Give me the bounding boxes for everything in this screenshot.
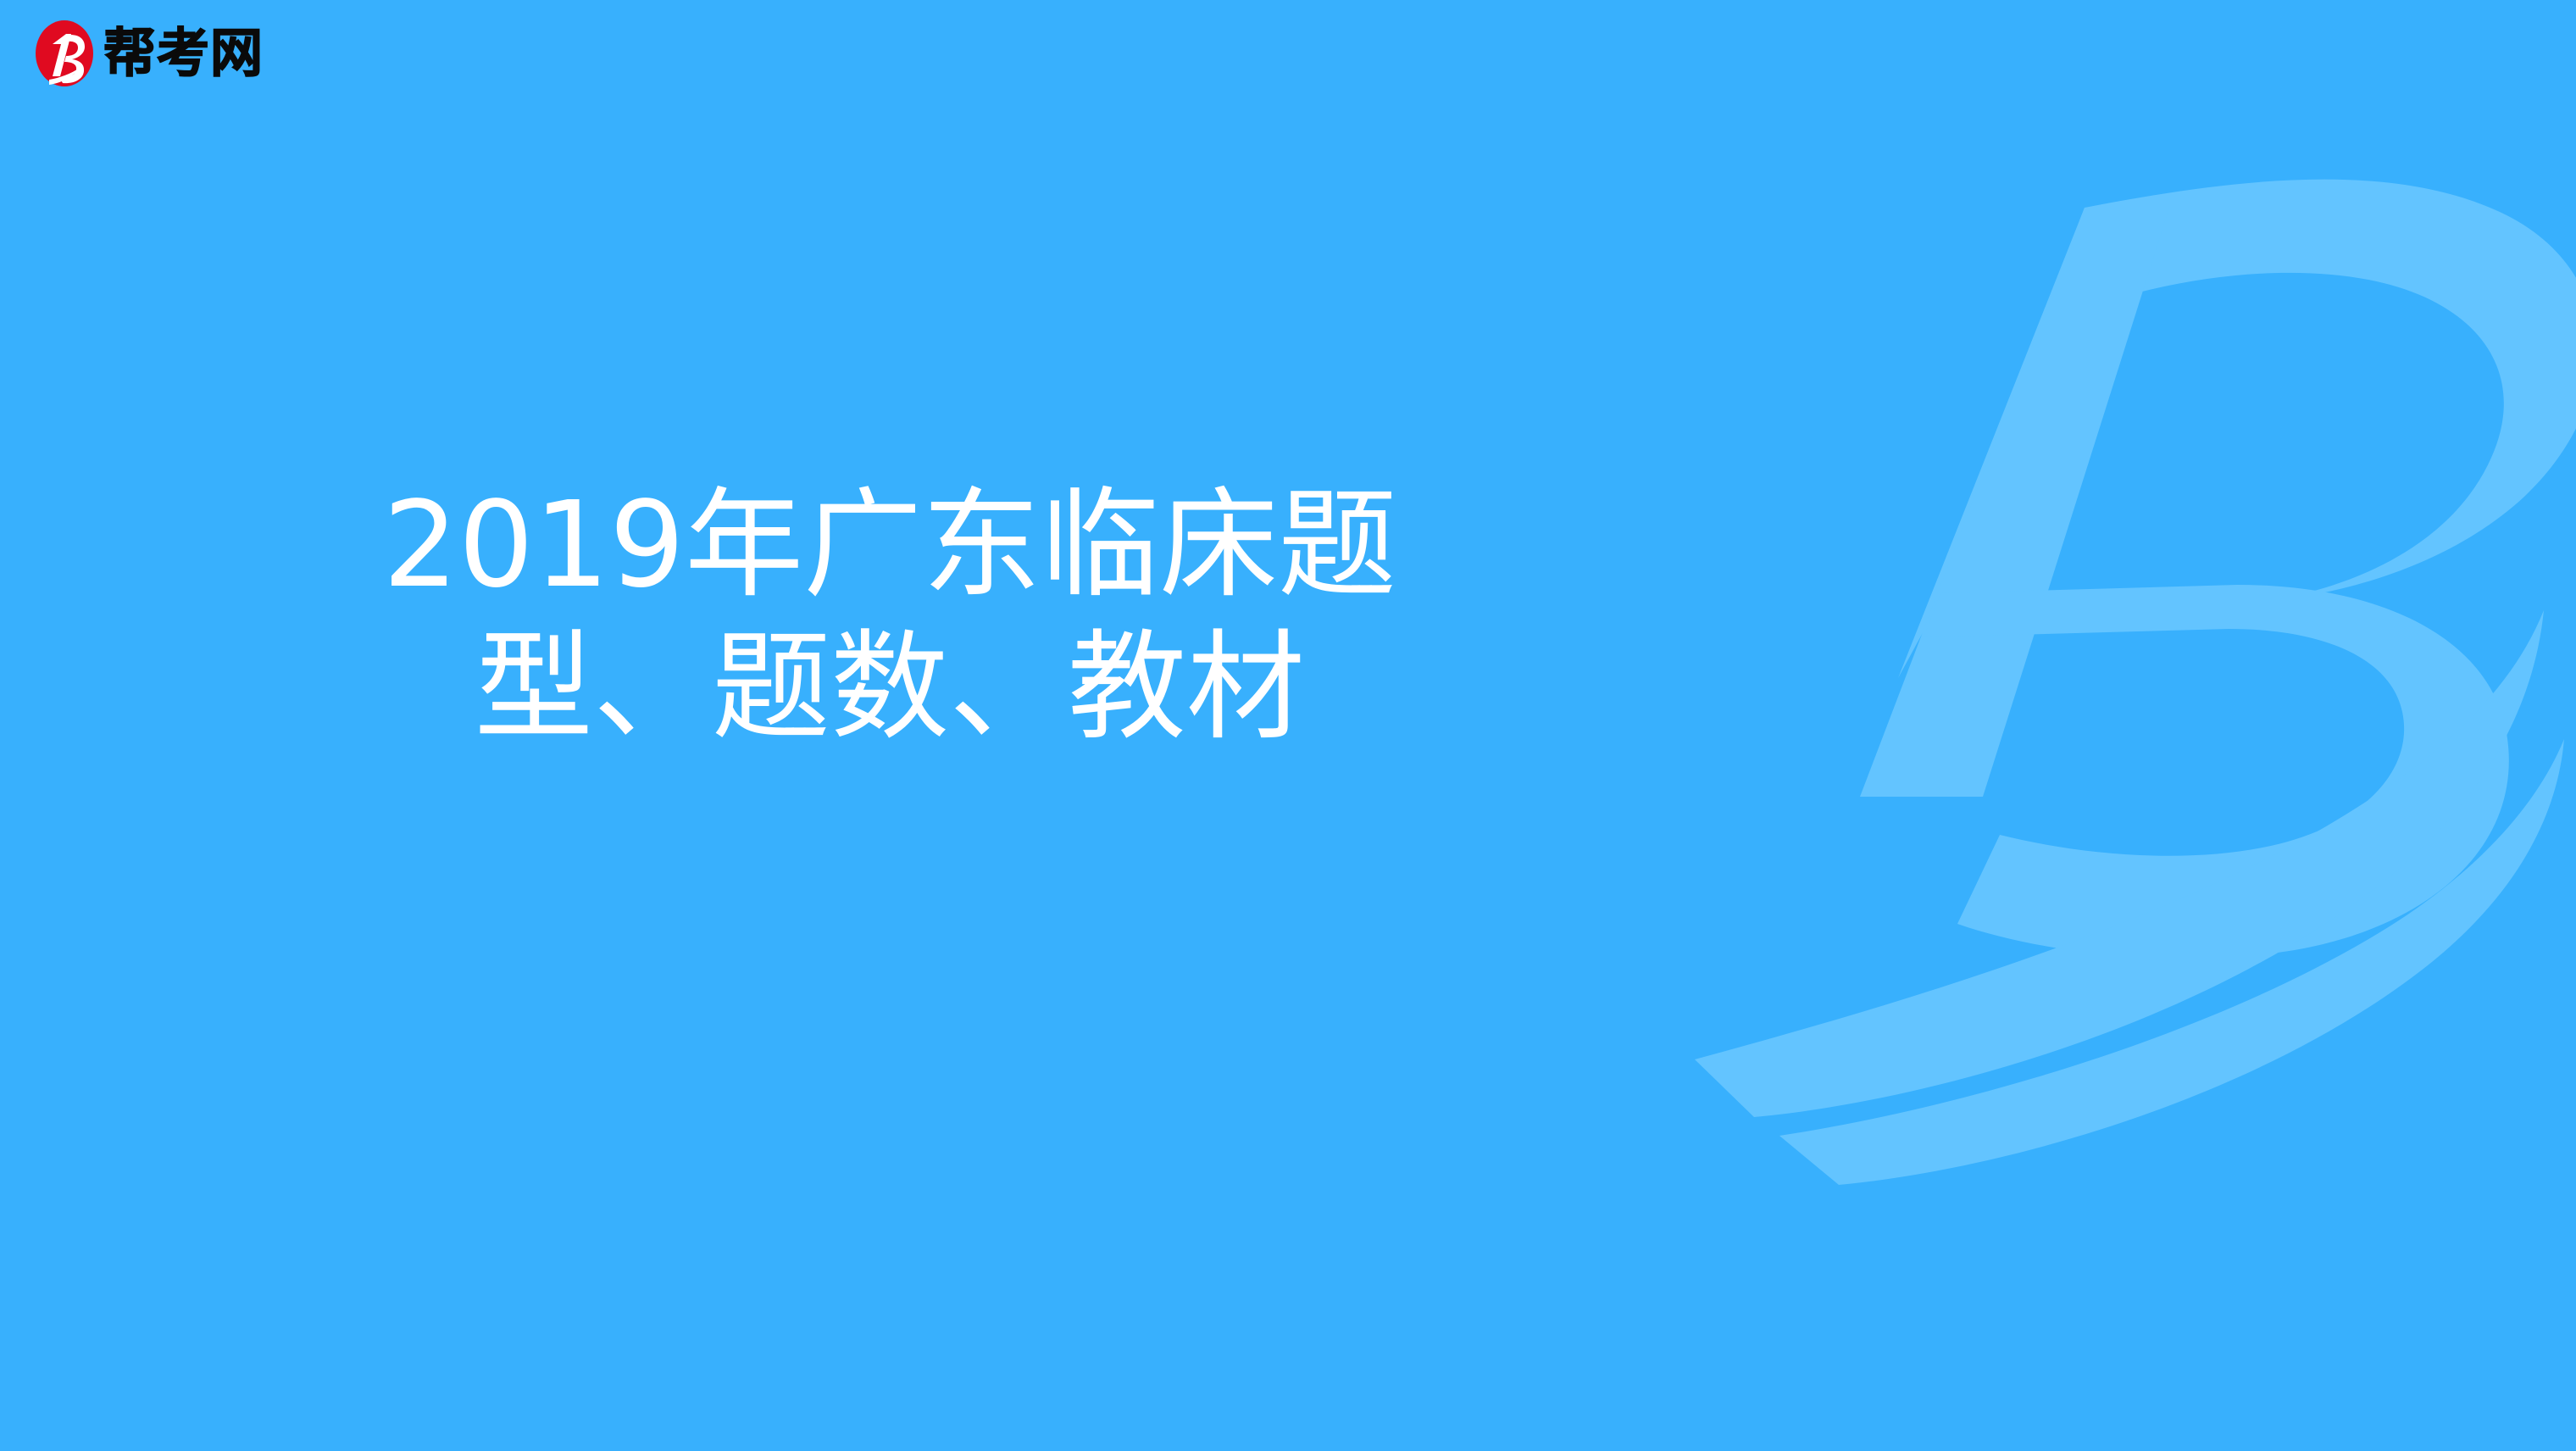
background-watermark-b	[1644, 0, 2576, 1451]
brand-name-label: 帮考网	[103, 27, 264, 80]
poster-canvas: 帮考网 2019年广东临床题 型、题数、教材	[0, 0, 2576, 1451]
headline: 2019年广东临床题 型、题数、教材	[0, 475, 1779, 759]
brand-b-icon	[34, 19, 95, 88]
headline-line-2: 型、题数、教材	[0, 617, 1779, 759]
headline-line-1: 2019年广东临床题	[0, 475, 1779, 617]
brand-logo[interactable]: 帮考网	[34, 19, 264, 88]
